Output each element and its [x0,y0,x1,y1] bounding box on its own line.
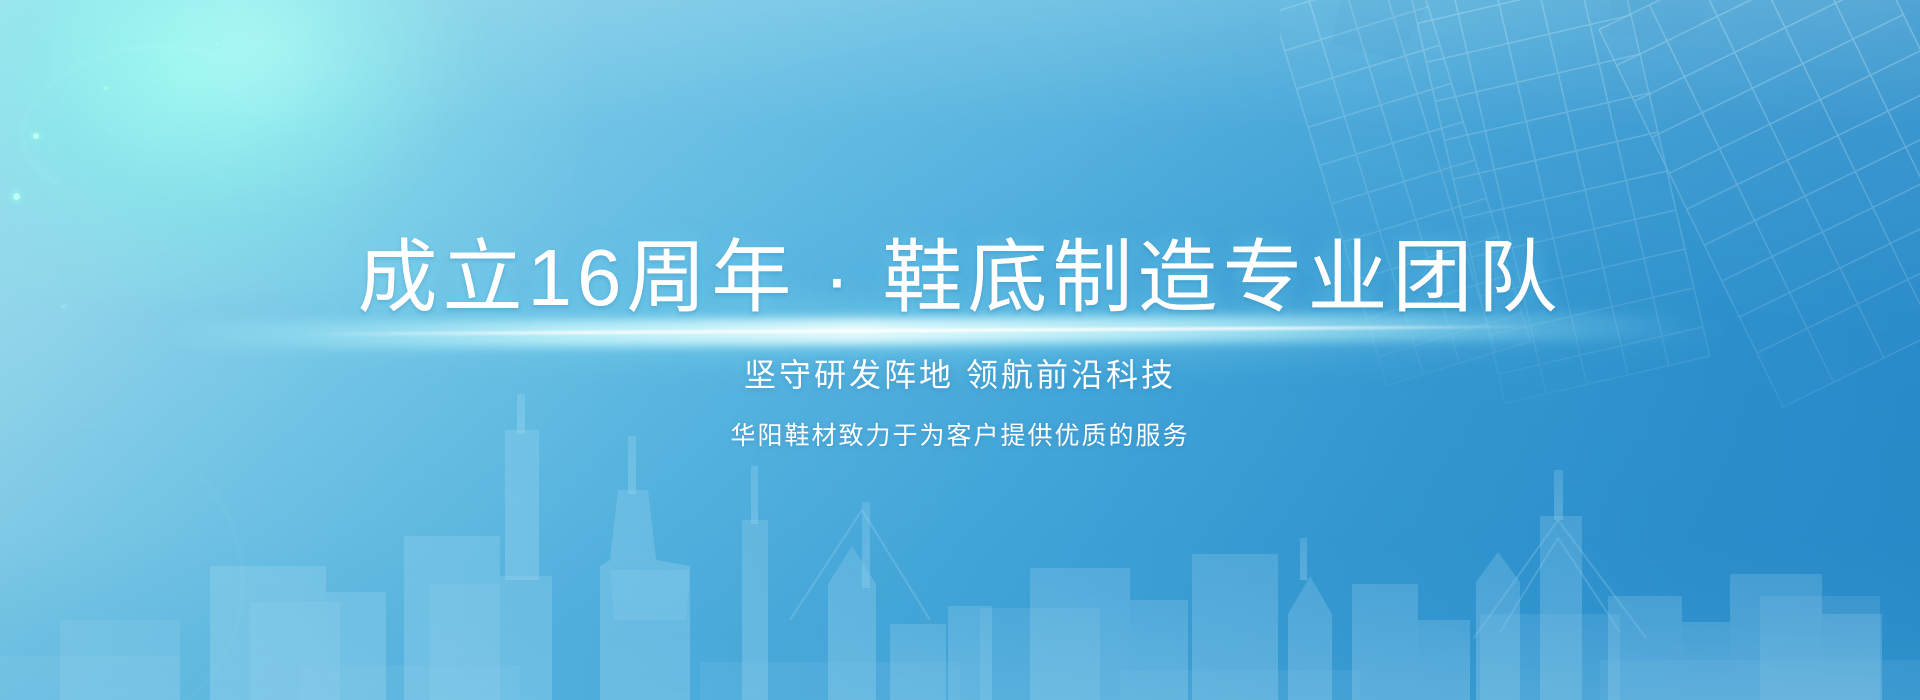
banner-headline: 成立16周年 · 鞋底制造专业团队 [357,236,1562,320]
banner-content: 成立16周年 · 鞋底制造专业团队 坚守研发阵地 领航前沿科技 华阳鞋材致力于为… [0,0,1920,700]
banner-subtitle-primary: 坚守研发阵地 领航前沿科技 [744,350,1176,396]
hero-banner: 成立16周年 · 鞋底制造专业团队 坚守研发阵地 领航前沿科技 华阳鞋材致力于为… [0,0,1920,700]
banner-subtitle-secondary: 华阳鞋材致力于为客户提供优质的服务 [730,416,1189,452]
